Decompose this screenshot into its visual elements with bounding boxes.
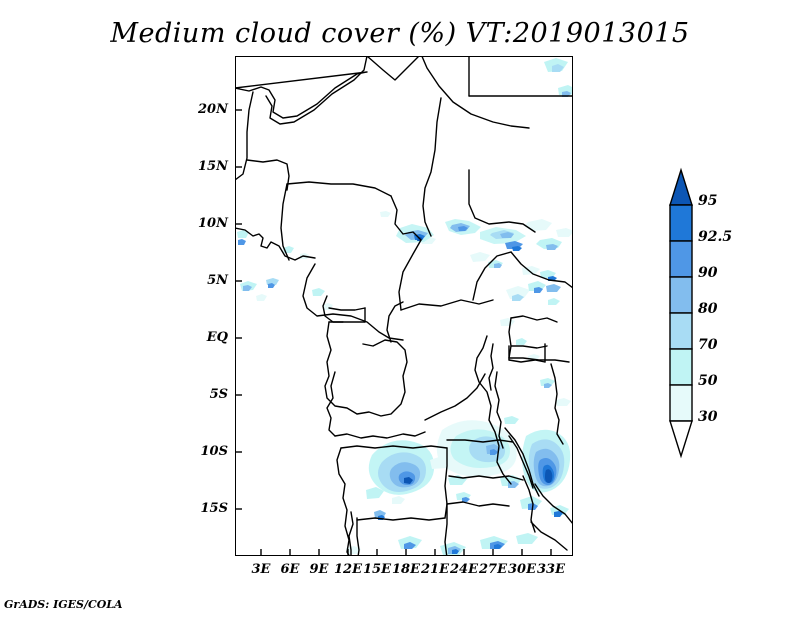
colorbar-band-95 — [670, 205, 692, 241]
ytick-label-10N: 10N — [186, 216, 228, 231]
grads-plot-window: Medium cloud cover (%) VT:2019013015 — [0, 0, 800, 618]
ytick-label-15S: 15S — [186, 501, 228, 516]
colorbar-label-80: 80 — [698, 301, 717, 317]
colorbar-band-92_5 — [670, 241, 692, 277]
colorbar-band-90 — [670, 277, 692, 313]
xtick-label-33E: 33E — [531, 562, 571, 577]
colorbar-band-50 — [670, 385, 692, 421]
ytick-label-5S: 5S — [186, 387, 228, 402]
colorbar-label-92_5: 92.5 — [698, 229, 732, 245]
ytick-label-20N: 20N — [186, 102, 228, 117]
colorbar-label-95: 95 — [698, 193, 717, 209]
colorbar-label-50: 50 — [698, 373, 717, 389]
colorbar — [670, 170, 692, 456]
ytick-label-15N: 15N — [186, 159, 228, 174]
ytick-label-EQ: EQ — [186, 330, 228, 345]
colorbar-band-80 — [670, 313, 692, 349]
colorbar-label-30: 30 — [698, 409, 717, 425]
colorbar-label-70: 70 — [698, 337, 717, 353]
map-canvas — [0, 0, 800, 618]
triangle-down-icon — [670, 421, 692, 456]
colorbar-label-90: 90 — [698, 265, 717, 281]
ytick-label-10S: 10S — [186, 444, 228, 459]
colorbar-band-70 — [670, 349, 692, 385]
ytick-label-5N: 5N — [186, 273, 228, 288]
credit-text: GrADS: IGES/COLA — [4, 598, 123, 611]
triangle-up-icon — [670, 170, 692, 205]
map-plot-area: 20N 15N 10N 5N EQ 5S 10S 15S 3E 6E 9E 12… — [0, 0, 800, 618]
